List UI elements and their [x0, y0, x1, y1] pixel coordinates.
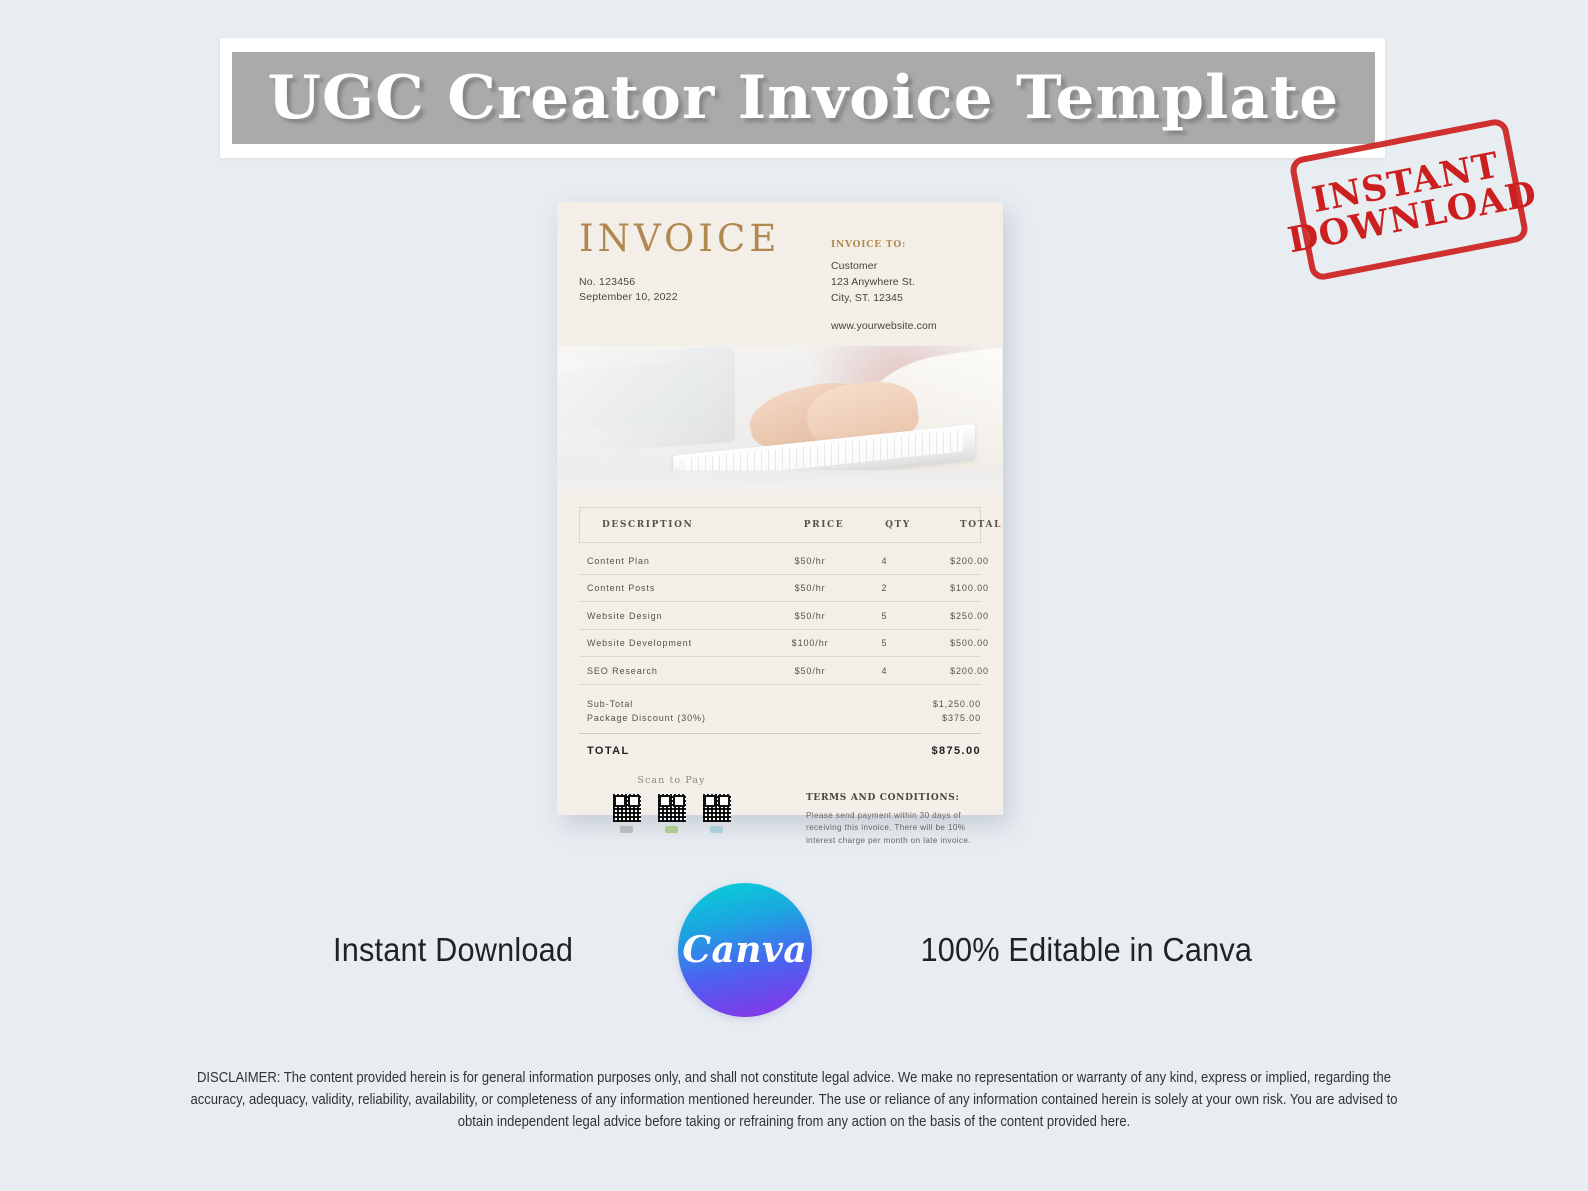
cell-price: $100/hr: [768, 638, 852, 648]
cell-qty: 5: [852, 611, 916, 621]
invoice-title: INVOICE: [579, 220, 780, 257]
terms-title: TERMS AND CONDITIONS:: [806, 793, 981, 803]
photo-laptop: [558, 346, 736, 456]
editable-in-canva-text: 100% Editable in Canva: [920, 931, 1252, 969]
invoice-website: www.yourwebsite.com: [831, 320, 981, 332]
disclaimer-text: DISCLAIMER: The content provided herein …: [178, 1068, 1409, 1133]
invoice-to-label: INVOICE TO:: [831, 240, 981, 250]
cell-description: SEO Research: [579, 666, 768, 676]
grand-total-row: TOTAL $875.00: [579, 734, 981, 757]
qr-code-icon: [658, 794, 686, 822]
invoice-header: INVOICE No. 123456 September 10, 2022 IN…: [557, 202, 1003, 340]
qr-code-1[interactable]: [613, 794, 641, 834]
grand-total-label: TOTAL: [587, 745, 630, 757]
table-header-row: DESCRIPTION PRICE QTY TOTAL: [579, 507, 981, 543]
qr-code-2[interactable]: [658, 794, 686, 834]
cell-total: $500.00: [917, 638, 989, 648]
cell-description: Content Posts: [579, 583, 768, 593]
scan-to-pay-label: Scan to Pay: [579, 775, 764, 786]
cell-total: $100.00: [917, 583, 989, 593]
page-title: UGC Creator Invoice Template: [268, 63, 1340, 133]
photo-desk-reflection: [558, 470, 1002, 494]
instant-download-text: Instant Download: [333, 931, 573, 969]
qr-code-caption: [613, 825, 641, 834]
cell-qty: 5: [852, 638, 916, 648]
qr-code-caption: [703, 825, 731, 834]
invoice-footer: Scan to Pay TERMS AND CONDITIONS: Please…: [557, 757, 1003, 848]
qr-code-icon: [703, 794, 731, 822]
discount-row: Package Discount (30%) $375.00: [579, 711, 981, 725]
subtotal-label: Sub-Total: [587, 699, 633, 709]
qr-code-row: [579, 794, 764, 834]
cell-price: $50/hr: [768, 556, 852, 566]
discount-value: $375.00: [942, 713, 981, 723]
canva-logo-wordmark: Canva: [682, 929, 807, 971]
subtotal-value: $1,250.00: [933, 699, 981, 709]
totals-section: Sub-Total $1,250.00 Package Discount (30…: [579, 697, 981, 757]
table-row: Content Posts $50/hr 2 $100.00: [579, 575, 981, 603]
cell-description: Website Development: [579, 638, 768, 648]
keyboard-photo: [558, 346, 1002, 493]
table-body: Content Plan $50/hr 4 $200.00 Content Po…: [579, 547, 981, 685]
table-row: SEO Research $50/hr 4 $200.00: [579, 657, 981, 685]
bill-to-line: 123 Anywhere St.: [831, 275, 981, 291]
canva-logo-icon: Canva: [678, 883, 812, 1017]
cell-total: $200.00: [917, 666, 989, 676]
invoice-meta: No. 123456 September 10, 2022: [579, 275, 780, 305]
cell-description: Content Plan: [579, 556, 768, 566]
invoice-date: September 10, 2022: [579, 290, 780, 305]
column-header-description: DESCRIPTION: [580, 520, 782, 530]
cell-price: $50/hr: [768, 666, 852, 676]
invoice-number: No. 123456: [579, 275, 780, 290]
qr-code-caption: [658, 825, 686, 834]
column-header-qty: QTY: [866, 520, 930, 530]
cell-total: $250.00: [917, 611, 989, 621]
table-row: Website Design $50/hr 5 $250.00: [579, 602, 981, 630]
qr-code-icon: [613, 794, 641, 822]
invoice-preview-card: INVOICE No. 123456 September 10, 2022 IN…: [557, 202, 1003, 815]
cell-price: $50/hr: [768, 611, 852, 621]
cell-qty: 4: [852, 666, 916, 676]
invoice-to-block: INVOICE TO: Customer 123 Anywhere St. Ci…: [831, 220, 981, 332]
bill-to-line: City, ST. 12345: [831, 291, 981, 307]
cell-qty: 4: [852, 556, 916, 566]
cell-qty: 2: [852, 583, 916, 593]
grand-total-value: $875.00: [931, 745, 981, 757]
title-banner-band: UGC Creator Invoice Template: [232, 52, 1375, 144]
invoice-title-block: INVOICE No. 123456 September 10, 2022: [579, 220, 780, 332]
bill-to-line: Customer: [831, 259, 981, 275]
terms-body: Please send payment within 30 days of re…: [806, 810, 981, 848]
column-header-total: TOTAL: [930, 520, 1014, 530]
subtotal-row: Sub-Total $1,250.00: [579, 697, 981, 711]
cell-total: $200.00: [917, 556, 989, 566]
cell-price: $50/hr: [768, 583, 852, 593]
column-header-price: PRICE: [782, 520, 866, 530]
qr-code-3[interactable]: [703, 794, 731, 834]
scan-to-pay-section: Scan to Pay: [579, 775, 764, 848]
discount-label: Package Discount (30%): [587, 713, 706, 723]
invoice-table: DESCRIPTION PRICE QTY TOTAL Content Plan…: [557, 507, 1003, 757]
terms-and-conditions-section: TERMS AND CONDITIONS: Please send paymen…: [806, 775, 981, 848]
cell-description: Website Design: [579, 611, 768, 621]
table-row: Website Development $100/hr 5 $500.00: [579, 630, 981, 658]
promo-row: Instant Download Canva 100% Editable in …: [0, 882, 1588, 1017]
table-row: Content Plan $50/hr 4 $200.00: [579, 547, 981, 575]
